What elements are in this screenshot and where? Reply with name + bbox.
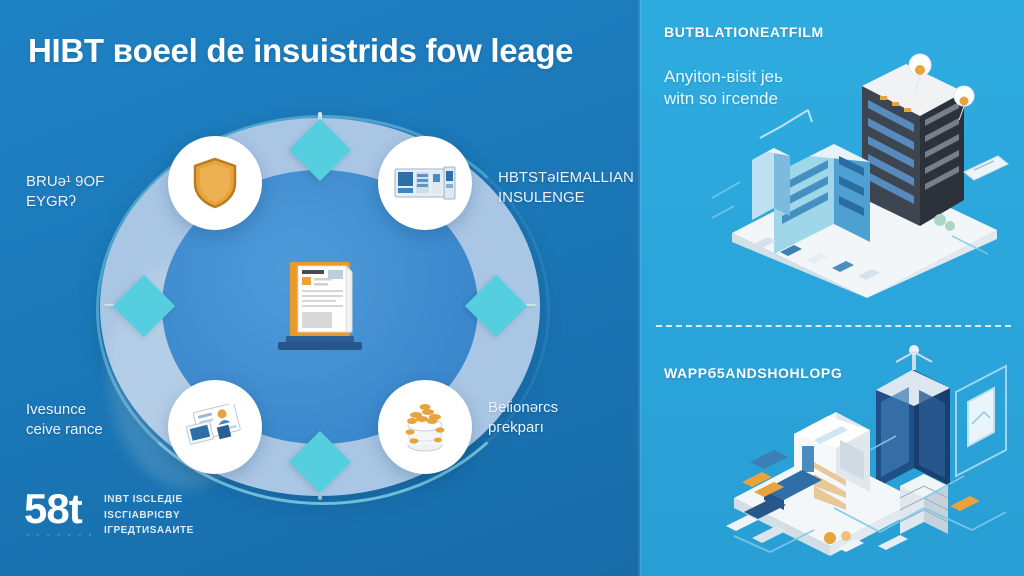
footer-stat-subtext: ▫ ▫ ▫ ▫ ▫ ▫ ▫ [26,532,94,539]
id-cards-icon [185,404,245,450]
footer-caption: INВT IЅСLEДIE IЅСГIAВРIСВY IГРЕДТИЅАAИТЕ [104,492,194,539]
label-line-1: HBTSTəIEMАLLIAN [498,168,638,188]
label-line-2: INSULЕNGE [498,188,638,208]
node-coins[interactable] [378,380,472,474]
label-node-id-cards: Iveѕunce ceіve rance [26,400,146,441]
section-dashed-divider [656,325,1011,327]
node-id-cards[interactable] [168,380,262,474]
shield-icon [192,157,238,209]
label-line-1: Вeiionәгсs [488,398,628,418]
footer-block: 58t ▫ ▫ ▫ ▫ ▫ ▫ ▫ INВT IЅСLEДIE IЅСГIAВР… [24,488,324,558]
footer-stat-number: 58t [24,488,82,530]
node-control-panel[interactable] [378,136,472,230]
left-panel: HIBT вoeel de insuistrids fow leage [0,0,640,576]
footer-caption-line-2: IЅСГIAВРIСВY [104,508,194,524]
label-line-2: EYGRʔ [26,192,136,212]
label-line-1: Iveѕunce [26,400,146,420]
label-line-2: ceіve rance [26,420,146,440]
label-node-coins: Вeiionәгсs pгekpaгı [488,398,628,439]
panel-divider [638,0,641,576]
label-line-2: pгekpaгı [488,418,628,438]
footer-caption-line-1: INВT IЅСLEДIE [104,492,194,508]
control-panel-icon [394,163,456,203]
label-line-1: BRUə¹ 9OF [26,172,136,192]
circular-process-diagram [100,118,540,496]
label-node-control-panel: HBTSTəIEMАLLIAN INSULЕNGE [498,168,638,209]
coins-stack-icon [402,399,448,455]
footer-caption-line-3: IГРЕДТИЅАAИТЕ [104,523,194,539]
center-document-icon [276,254,364,358]
infographic-canvas: HIBT вoeel de insuistrids fow leage [0,0,1024,576]
right-section-top-heading: BUTBLATIONEATFILM [664,24,824,40]
node-shield[interactable] [168,136,262,230]
isometric-warehouse-logistics-illustration [718,340,1024,576]
label-node-shield: BRUə¹ 9OF EYGRʔ [26,172,136,213]
page-title: HIBT вoeel de insuistrids fow leage [28,32,618,70]
isometric-city-buildings-illustration [712,48,1022,298]
